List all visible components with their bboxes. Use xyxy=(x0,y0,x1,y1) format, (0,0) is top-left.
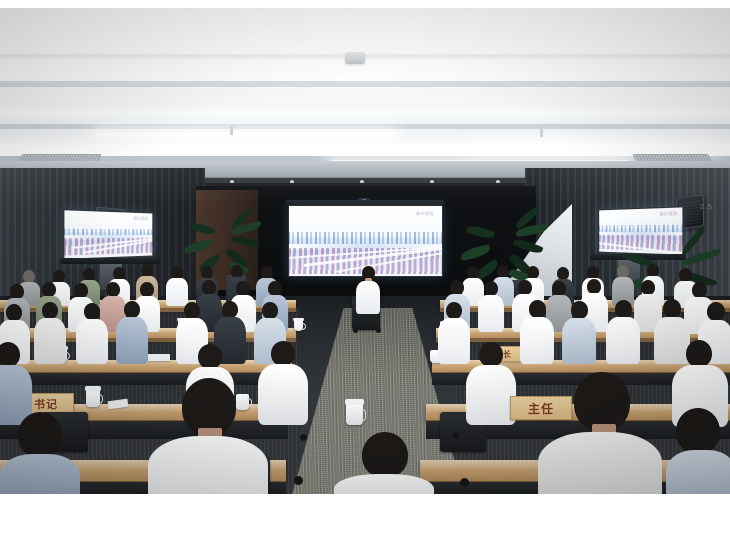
mug-lid xyxy=(345,399,364,405)
ceiling-drop-rod-1 xyxy=(230,126,233,135)
head xyxy=(6,304,22,321)
attendee xyxy=(466,342,516,422)
left-display-frame xyxy=(63,209,153,260)
chair-caster xyxy=(460,478,469,487)
head xyxy=(587,279,601,294)
screenshot-root: 2.5 城市规划 xyxy=(0,0,730,548)
letterbox-bottom xyxy=(0,494,730,548)
chair-caster xyxy=(294,476,303,485)
torso xyxy=(116,317,148,364)
head xyxy=(106,282,120,297)
head xyxy=(268,281,282,296)
torso xyxy=(562,318,596,364)
torso xyxy=(334,474,434,495)
torso xyxy=(356,281,380,314)
ceiling-slab-1 xyxy=(0,8,730,54)
head xyxy=(692,282,707,298)
head xyxy=(518,280,532,295)
smoke-detector-icon xyxy=(345,52,365,64)
head xyxy=(450,280,464,295)
head xyxy=(615,300,632,318)
head xyxy=(262,302,278,319)
mug xyxy=(294,320,303,331)
head xyxy=(84,303,100,320)
attendee xyxy=(116,301,148,362)
head xyxy=(484,281,498,296)
left-led-display[interactable]: 城市规划 xyxy=(63,209,153,260)
head xyxy=(18,412,62,458)
head xyxy=(222,301,238,318)
torso xyxy=(34,318,66,364)
mug-foreground xyxy=(346,404,363,425)
attendee xyxy=(606,300,640,362)
head xyxy=(42,282,56,297)
head xyxy=(74,283,88,298)
head xyxy=(271,341,295,366)
torso xyxy=(466,365,516,425)
ceiling-light-strip-6 xyxy=(470,145,720,150)
head xyxy=(0,342,20,367)
wall-sign: 2.5 xyxy=(700,204,713,211)
head xyxy=(552,281,566,296)
torso xyxy=(520,317,554,364)
head xyxy=(140,282,154,297)
ceiling-light-strip-4 xyxy=(96,132,396,137)
head xyxy=(479,342,503,367)
conference-room-photo: 2.5 城市规划 xyxy=(0,8,730,495)
letterbox-top xyxy=(0,0,730,8)
torso xyxy=(76,319,108,364)
head xyxy=(529,300,546,318)
head xyxy=(236,281,250,296)
attendee-foreground-right xyxy=(538,372,662,495)
head xyxy=(446,302,462,319)
head xyxy=(574,372,630,432)
attendee xyxy=(612,265,634,304)
head xyxy=(641,280,655,295)
head xyxy=(184,302,200,319)
attendee xyxy=(0,342,32,422)
mug-lid xyxy=(293,318,304,321)
head xyxy=(10,284,24,299)
attendee-front-center xyxy=(356,266,380,314)
torso xyxy=(478,295,504,332)
mug xyxy=(86,390,100,407)
head xyxy=(571,301,588,319)
head xyxy=(686,340,712,367)
torso xyxy=(148,436,268,495)
head xyxy=(42,302,58,319)
attendee-foreground-center xyxy=(334,432,434,495)
attendee xyxy=(562,301,596,362)
attendee-foreground-far-left xyxy=(0,412,80,495)
chair-caster xyxy=(353,328,358,333)
ceiling-light-strip-2 xyxy=(0,111,730,124)
mug-lid xyxy=(85,386,101,391)
head xyxy=(676,408,720,454)
attendee xyxy=(478,281,504,330)
ceiling-slab-2 xyxy=(0,87,730,111)
torso xyxy=(666,450,730,495)
head xyxy=(679,268,692,282)
ceiling-light-strip-1 xyxy=(0,59,730,81)
head xyxy=(707,302,725,321)
attendee-foreground-left xyxy=(148,378,268,495)
plant-leaf xyxy=(512,236,543,256)
torso xyxy=(538,432,662,495)
ceiling-drop-rod-2 xyxy=(540,128,543,137)
chair-caster xyxy=(300,434,307,441)
chair-caster xyxy=(452,432,459,439)
attendee xyxy=(76,303,108,362)
head xyxy=(663,299,681,318)
chair-caster xyxy=(376,328,381,333)
attendee xyxy=(166,266,188,304)
head xyxy=(362,432,408,478)
head xyxy=(202,280,216,295)
head xyxy=(124,301,140,318)
plant-leaf xyxy=(231,233,260,249)
attendee-foreground-far-right xyxy=(666,408,730,495)
torso xyxy=(606,317,640,364)
attendee xyxy=(34,302,66,362)
head xyxy=(198,344,222,369)
torso xyxy=(0,454,80,495)
document-sheet xyxy=(148,354,170,361)
attendee xyxy=(520,300,554,362)
